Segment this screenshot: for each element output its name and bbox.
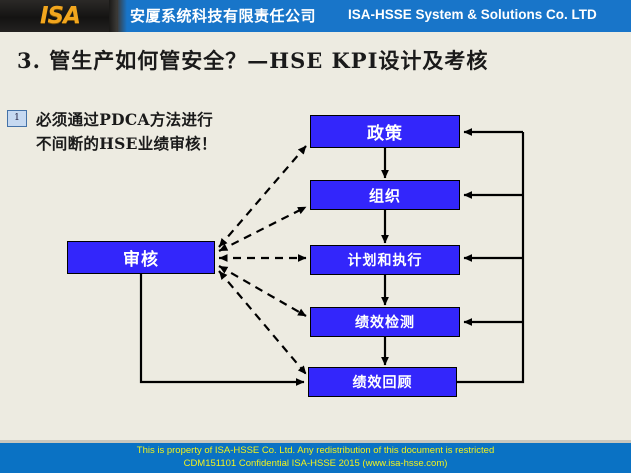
flow-node-policy[interactable]: 政策 — [310, 115, 460, 148]
edge-audit-review — [141, 274, 304, 382]
flow-node-measure[interactable]: 绩效检测 — [310, 307, 460, 337]
slide-footer: This is property of ISA-HSSE Co. Ltd. An… — [0, 443, 631, 473]
header-company-name-cn: 安厦系统科技有限责任公司 — [130, 5, 316, 26]
bullet-line-2: 不间断的HSE业绩审核！ — [36, 132, 286, 156]
flow-node-org[interactable]: 组织 — [310, 180, 460, 210]
edge-audit-measure — [219, 266, 306, 316]
edge-review-bus — [457, 132, 523, 382]
edge-audit-review-dashed — [219, 271, 306, 374]
flow-node-review[interactable]: 绩效回顾 — [308, 367, 457, 397]
edge-audit-policy — [219, 146, 306, 247]
bullet-text-block: 必须通过PDCA方法进行 不间断的HSE业绩审核！ — [36, 108, 286, 156]
footer-document-id-line: CDM151101 Confidential ISA-HSSE 2015 (ww… — [0, 458, 631, 469]
flow-node-audit[interactable]: 审核 — [67, 241, 215, 274]
bullet-line-1: 必须通过PDCA方法进行 — [36, 108, 286, 132]
slide-header: ISA 安厦系统科技有限责任公司 ISA-HSSE System & Solut… — [0, 0, 631, 32]
isa-logo: ISA — [40, 3, 80, 29]
footer-copyright-line: This is property of ISA-HSSE Co. Ltd. An… — [0, 445, 631, 456]
edge-audit-org — [219, 207, 306, 251]
flow-node-plan[interactable]: 计划和执行 — [310, 245, 460, 275]
logo-plate: ISA — [0, 0, 118, 32]
header-company-name-en: ISA-HSSE System & Solutions Co. LTD — [348, 7, 597, 22]
slide-canvas: ISA 安厦系统科技有限责任公司 ISA-HSSE System & Solut… — [0, 0, 631, 473]
page-title: 3. 管生产如何管安全？—HSE KPI设计及考核 — [17, 45, 488, 75]
bullet-number-badge: 1 — [7, 110, 27, 127]
